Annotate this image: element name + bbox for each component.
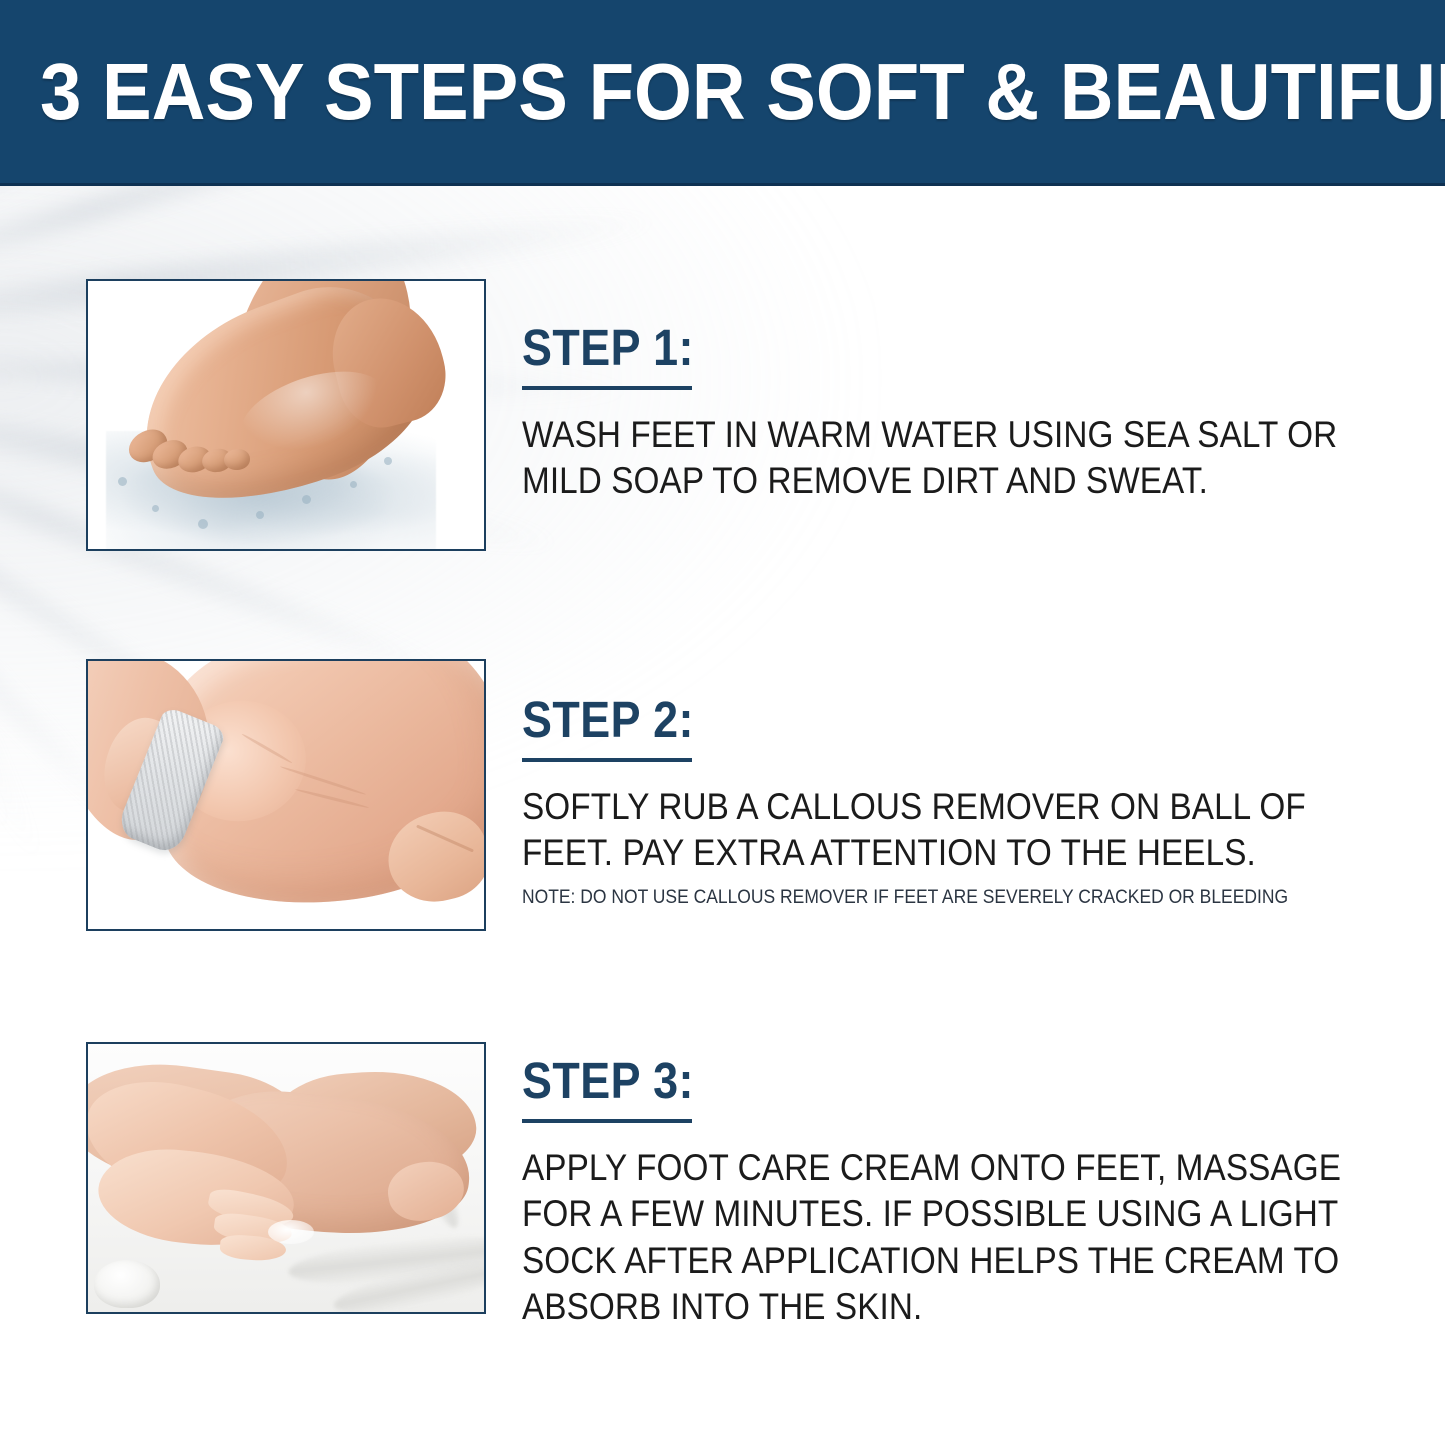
- cream-dab: [268, 1220, 314, 1244]
- water-droplet: [384, 457, 392, 465]
- water-droplet: [198, 519, 208, 529]
- step-3-title-underline: [522, 1119, 692, 1123]
- water-droplet: [350, 481, 357, 488]
- step-1-photo-frame: [86, 279, 486, 551]
- frond-shadow-streak: [0, 186, 526, 291]
- step-1-photo-foot-in-water: [88, 281, 484, 549]
- water-droplet: [152, 505, 159, 512]
- step-1-body: WASH FEET IN WARM WATER USING SEA SALT O…: [522, 412, 1386, 505]
- infographic-poster: 3 EASY STEPS FOR SOFT & BEAUTIFUL FEET: [0, 0, 1445, 1445]
- cream-jar: [94, 1260, 160, 1308]
- step-1-title: STEP 1:: [522, 321, 1283, 375]
- step-2-note: NOTE: DO NOT USE CALLOUS REMOVER IF FEET…: [522, 886, 1389, 910]
- water-droplet: [118, 477, 127, 486]
- step-row-2: STEP 2: SOFTLY RUB A CALLOUS REMOVER ON …: [0, 659, 1445, 931]
- header-band: 3 EASY STEPS FOR SOFT & BEAUTIFUL FEET: [0, 0, 1445, 186]
- step-3-photo-foot-massage: [88, 1044, 484, 1312]
- water-droplet: [256, 511, 264, 519]
- page-title: 3 EASY STEPS FOR SOFT & BEAUTIFUL FEET: [40, 52, 1445, 132]
- step-2-title-underline: [522, 758, 692, 762]
- frond-shadow-streak: [0, 186, 570, 244]
- frond-shadow-streak: [0, 186, 375, 201]
- step-2-photo-frame: [86, 659, 486, 931]
- step-3-title: STEP 3:: [522, 1054, 1283, 1108]
- step-1-text-block: STEP 1: WASH FEET IN WARM WATER USING SE…: [522, 279, 1445, 505]
- step-row-1: STEP 1: WASH FEET IN WARM WATER USING SE…: [0, 279, 1445, 551]
- step-3-photo-frame: [86, 1042, 486, 1314]
- step-row-3: STEP 3: APPLY FOOT CARE CREAM ONTO FEET,…: [0, 1042, 1445, 1331]
- step-2-photo-pumice-on-heel: [88, 661, 484, 929]
- step-1-title-underline: [522, 386, 692, 390]
- step-2-body: SOFTLY RUB A CALLOUS REMOVER ON BALL OF …: [522, 784, 1386, 877]
- water-droplet: [302, 495, 311, 504]
- step-3-text-block: STEP 3: APPLY FOOT CARE CREAM ONTO FEET,…: [522, 1042, 1445, 1331]
- step-2-title: STEP 2:: [522, 693, 1283, 747]
- step-3-body: APPLY FOOT CARE CREAM ONTO FEET, MASSAGE…: [522, 1145, 1386, 1331]
- step-2-text-block: STEP 2: SOFTLY RUB A CALLOUS REMOVER ON …: [522, 659, 1445, 910]
